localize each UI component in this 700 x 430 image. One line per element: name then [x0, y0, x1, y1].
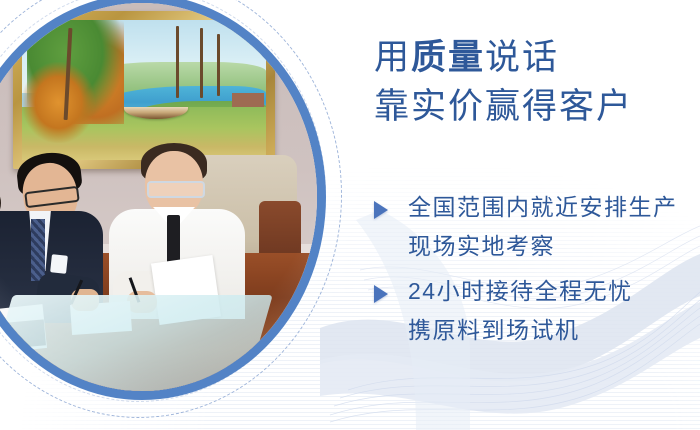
feature-item-2-line-1: 24小时接待全程无忧 — [408, 280, 694, 303]
feature-item-2: 24小时接待全程无忧 携原料到场试机 — [374, 280, 694, 342]
headline-block: 用质量说话 靠实价赢得客户 — [374, 36, 694, 129]
feature-item-2-line-2: 携原料到场试机 — [408, 319, 694, 342]
photo-content — [0, 3, 317, 391]
feature-item-1: 全国范围内就近安排生产 现场实地考察 — [374, 196, 694, 258]
photo-vignette — [0, 3, 317, 391]
promotional-banner: 用质量说话 靠实价赢得客户 全国范围内就近安排生产 现场实地考察 24小时接待全… — [0, 0, 700, 430]
feature-item-1-line-1: 全国范围内就近安排生产 — [408, 196, 694, 219]
triangle-right-icon — [374, 201, 388, 219]
meeting-photo — [0, 3, 317, 391]
headline-line1-post: 说话 — [485, 38, 559, 77]
feature-list: 全国范围内就近安排生产 现场实地考察 24小时接待全程无忧 携原料到场试机 — [374, 196, 694, 364]
headline-line-1: 用质量说话 — [374, 36, 694, 79]
triangle-right-icon — [374, 285, 388, 303]
headline-line-2: 靠实价赢得客户 — [374, 85, 694, 128]
headline-line1-pre: 用 — [374, 38, 411, 77]
feature-item-1-line-2: 现场实地考察 — [408, 235, 694, 258]
photo-circle-composition — [0, 0, 362, 430]
headline-line1-bold: 质量 — [411, 38, 485, 77]
